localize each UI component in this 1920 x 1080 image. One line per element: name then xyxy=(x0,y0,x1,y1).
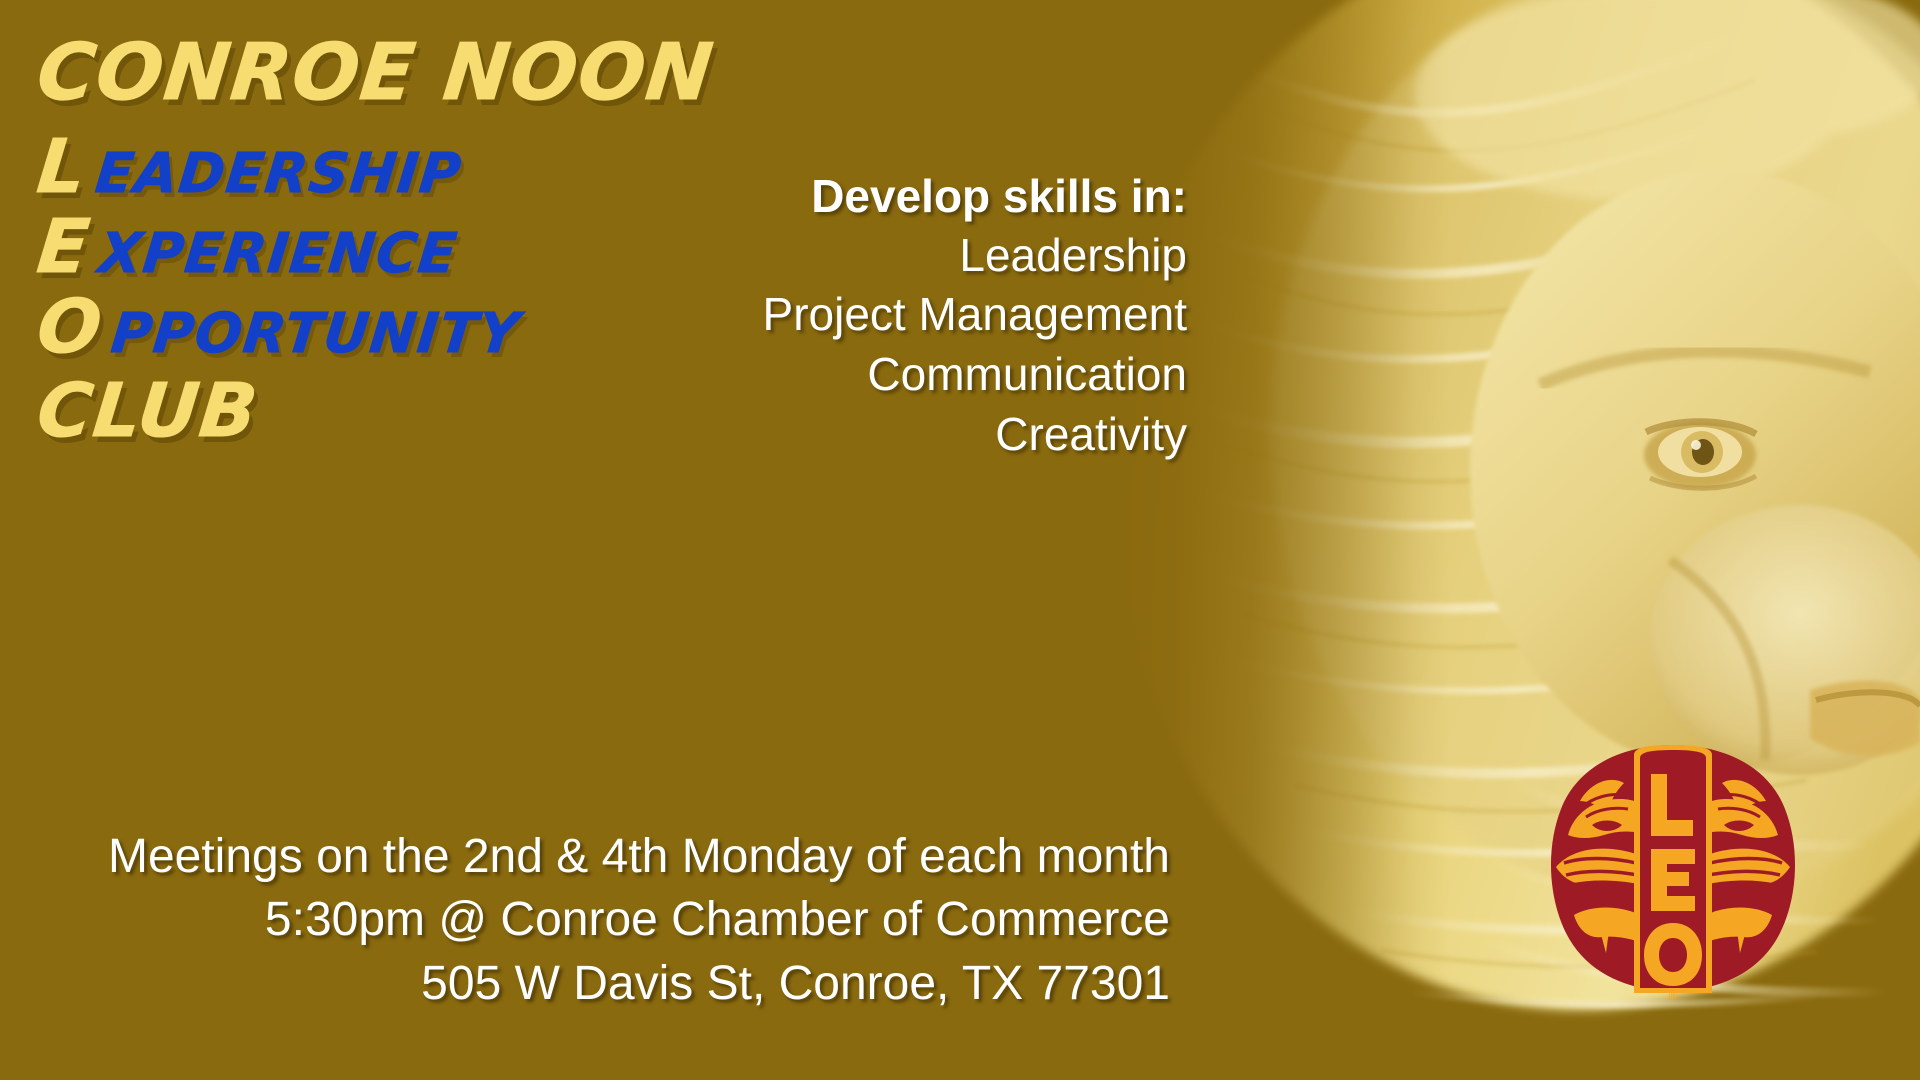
leo-club-logo: ® xyxy=(1538,727,1808,1002)
acronym-initial-e: E xyxy=(34,210,94,284)
club-word: Club xyxy=(34,374,262,448)
skills-item-leadership: Leadership xyxy=(763,226,1187,286)
acronym-initial-l: L xyxy=(34,130,90,204)
acronym-initial-o: O xyxy=(34,290,106,364)
skills-heading: Develop skills in: xyxy=(763,168,1187,226)
emblem-letter-e xyxy=(1651,849,1695,911)
acronym-word-experience: xperience xyxy=(96,226,460,281)
lion-eye xyxy=(1644,422,1756,489)
skills-item-project-management: Project Management xyxy=(763,285,1187,345)
acronym-row-opportunity: O pportunity xyxy=(34,290,802,364)
skills-item-communication: Communication xyxy=(763,345,1187,405)
acronym-row-club: Club xyxy=(34,374,802,448)
emblem-registered-mark: ® xyxy=(1669,988,1678,1002)
meeting-schedule-line: Meetings on the 2nd & 4th Monday of each… xyxy=(0,825,1170,888)
meeting-address-line: 505 W Davis St, Conroe, TX 77301 xyxy=(0,952,1170,1015)
acronym-word-opportunity: pportunity xyxy=(109,306,523,361)
acronym-row-leadership: L eadership xyxy=(34,130,802,204)
lion-nose xyxy=(1810,681,1920,756)
acronym-row-experience: E xperience xyxy=(34,210,802,284)
poster-canvas: Conroe Noon L eadership E xperience O pp… xyxy=(0,0,1920,1080)
skills-item-creativity: Creativity xyxy=(763,405,1187,465)
acronym-word-leadership: eadership xyxy=(93,146,464,201)
headline-block: Conroe Noon L eadership E xperience O pp… xyxy=(38,34,798,454)
page-title: Conroe Noon xyxy=(34,34,802,112)
meeting-details-block: Meetings on the 2nd & 4th Monday of each… xyxy=(0,825,1170,1015)
meeting-time-venue-line: 5:30pm @ Conroe Chamber of Commerce xyxy=(0,888,1170,951)
skills-block: Develop skills in: Leadership Project Ma… xyxy=(763,168,1187,465)
emblem-letter-o xyxy=(1644,923,1702,986)
leo-emblem-svg: ® xyxy=(1538,727,1808,1002)
